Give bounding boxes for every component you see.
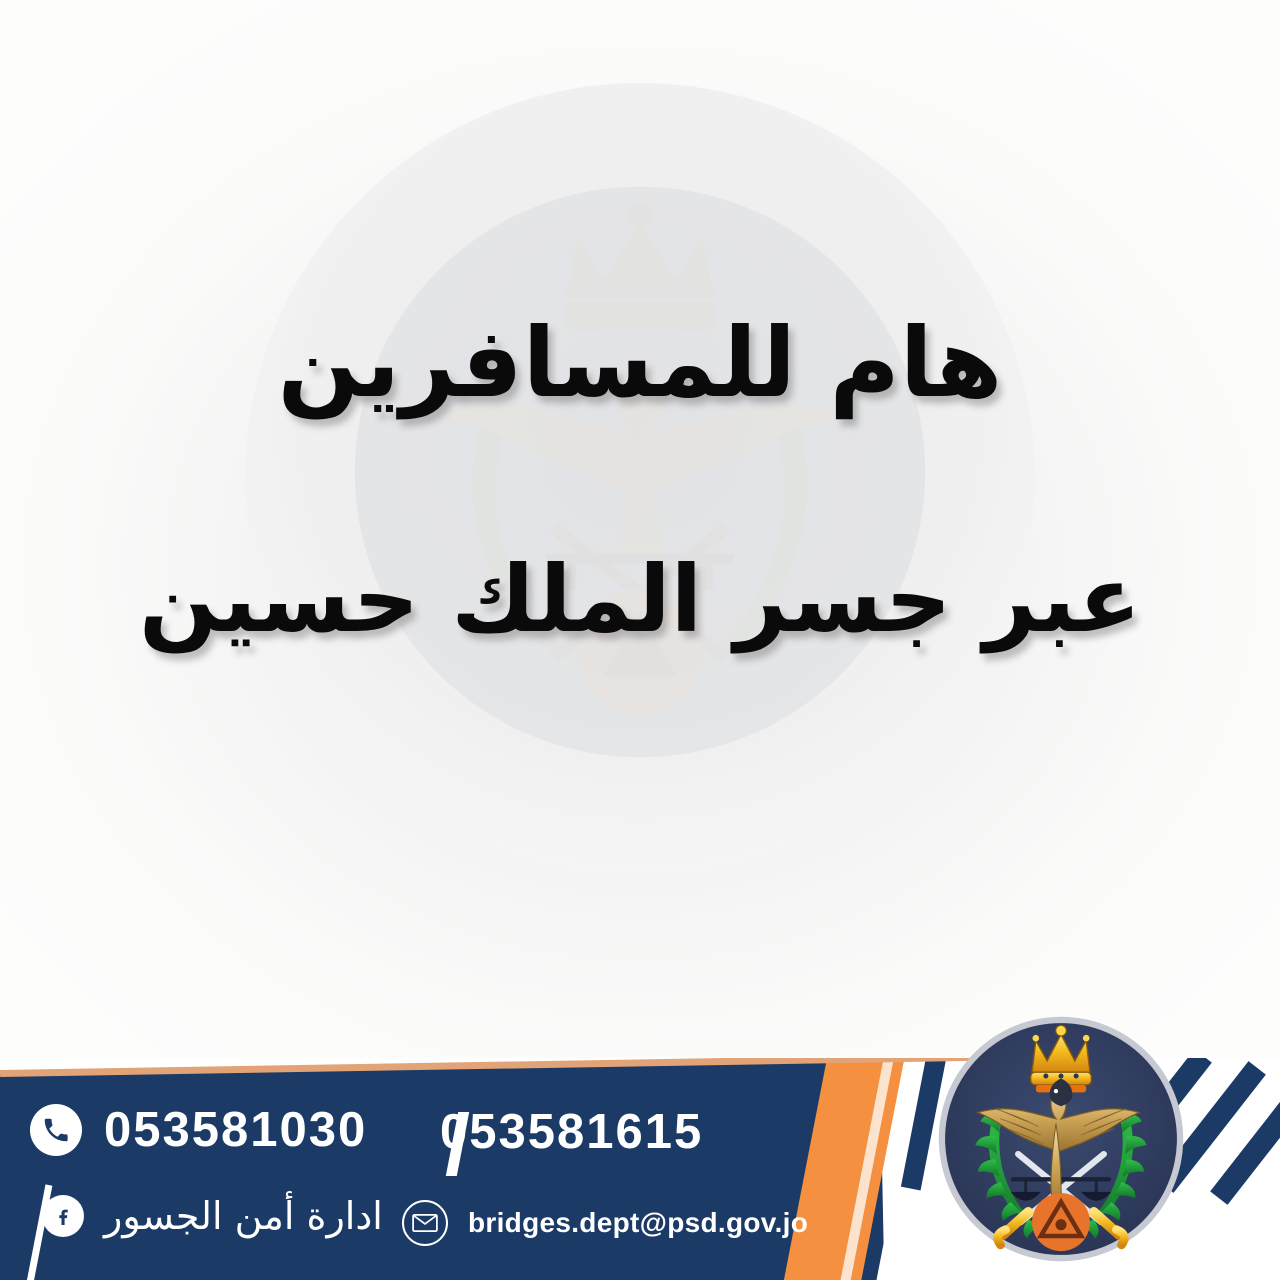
facebook-icon	[42, 1195, 84, 1237]
announcement-poster: هام للمسافرين عبر جسر الملك حسين	[0, 0, 1280, 1280]
contact-facebook[interactable]: ادارة أمن الجسور	[42, 1194, 383, 1238]
headline-block: هام للمسافرين عبر جسر الملك حسين	[0, 300, 1280, 660]
contact-phone-secondary[interactable]: 053581615	[440, 1104, 703, 1160]
phone-secondary-number: 053581615	[440, 1104, 703, 1160]
headline-line-1: هام للمسافرين	[0, 300, 1280, 427]
headline-line-2: عبر جسر الملك حسين	[0, 539, 1280, 660]
envelope-icon	[402, 1200, 448, 1246]
facebook-page-name: ادارة أمن الجسور	[104, 1194, 383, 1238]
phone-icon	[30, 1104, 82, 1156]
email-address: bridges.dept@psd.gov.jo	[468, 1207, 808, 1239]
psd-emblem-icon	[935, 1013, 1187, 1265]
phone-primary-number: 053581030	[104, 1102, 367, 1158]
contact-phone-primary[interactable]: 053581030	[30, 1102, 367, 1158]
contact-email[interactable]: bridges.dept@psd.gov.jo	[402, 1200, 808, 1246]
